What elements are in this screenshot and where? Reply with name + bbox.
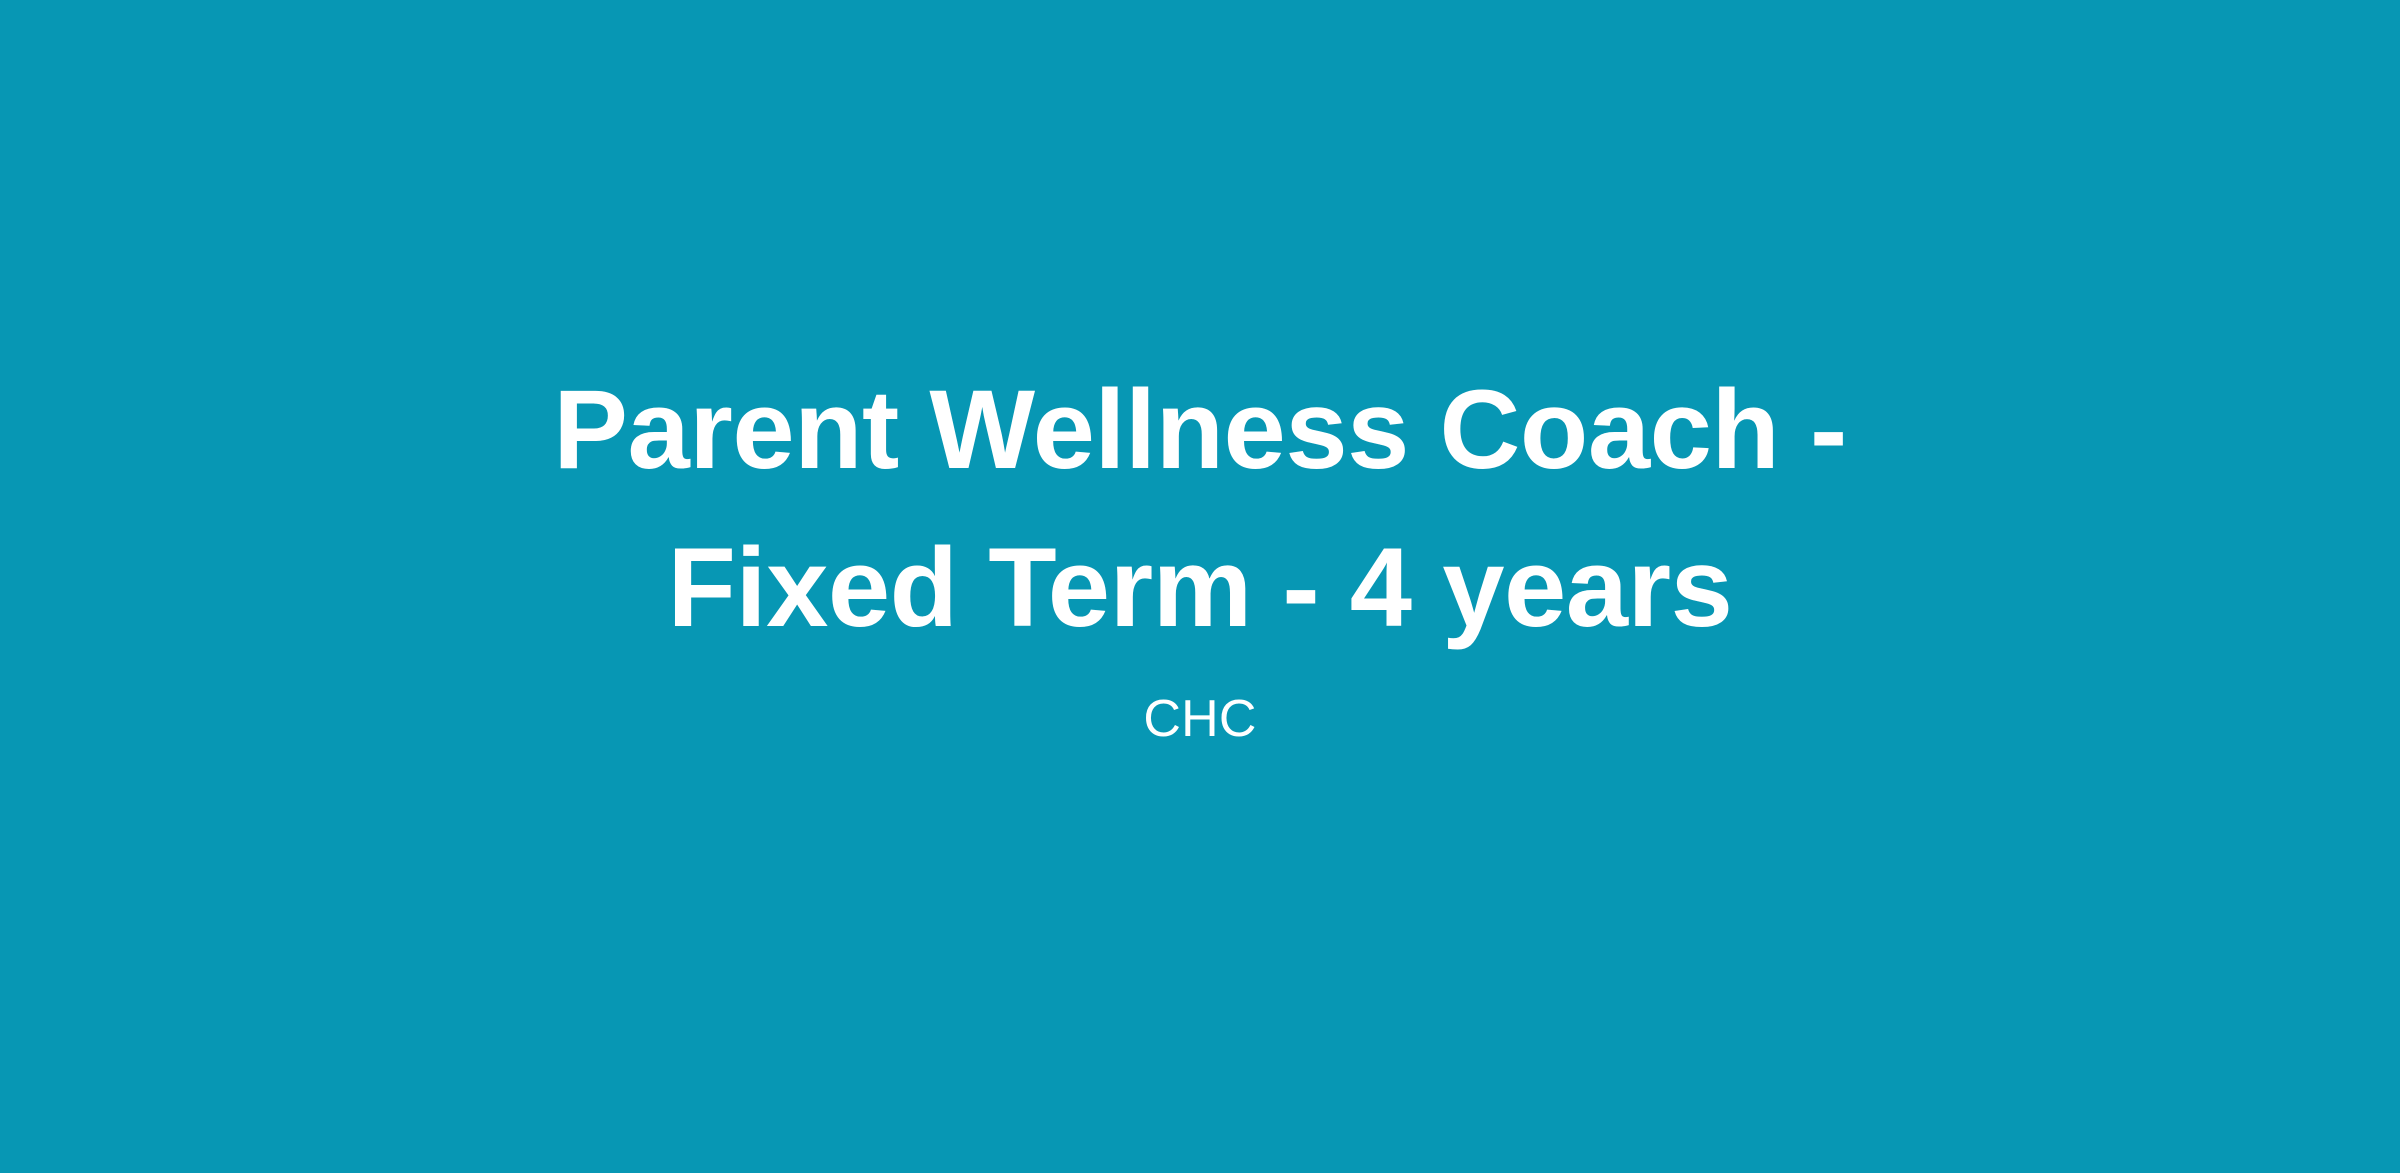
job-organization-subtitle: CHC xyxy=(450,683,1950,755)
job-title: Parent Wellness Coach - Fixed Term - 4 y… xyxy=(450,351,1950,667)
banner-content: Parent Wellness Coach - Fixed Term - 4 y… xyxy=(450,351,1950,755)
job-posting-banner: Parent Wellness Coach - Fixed Term - 4 y… xyxy=(0,0,2400,1173)
